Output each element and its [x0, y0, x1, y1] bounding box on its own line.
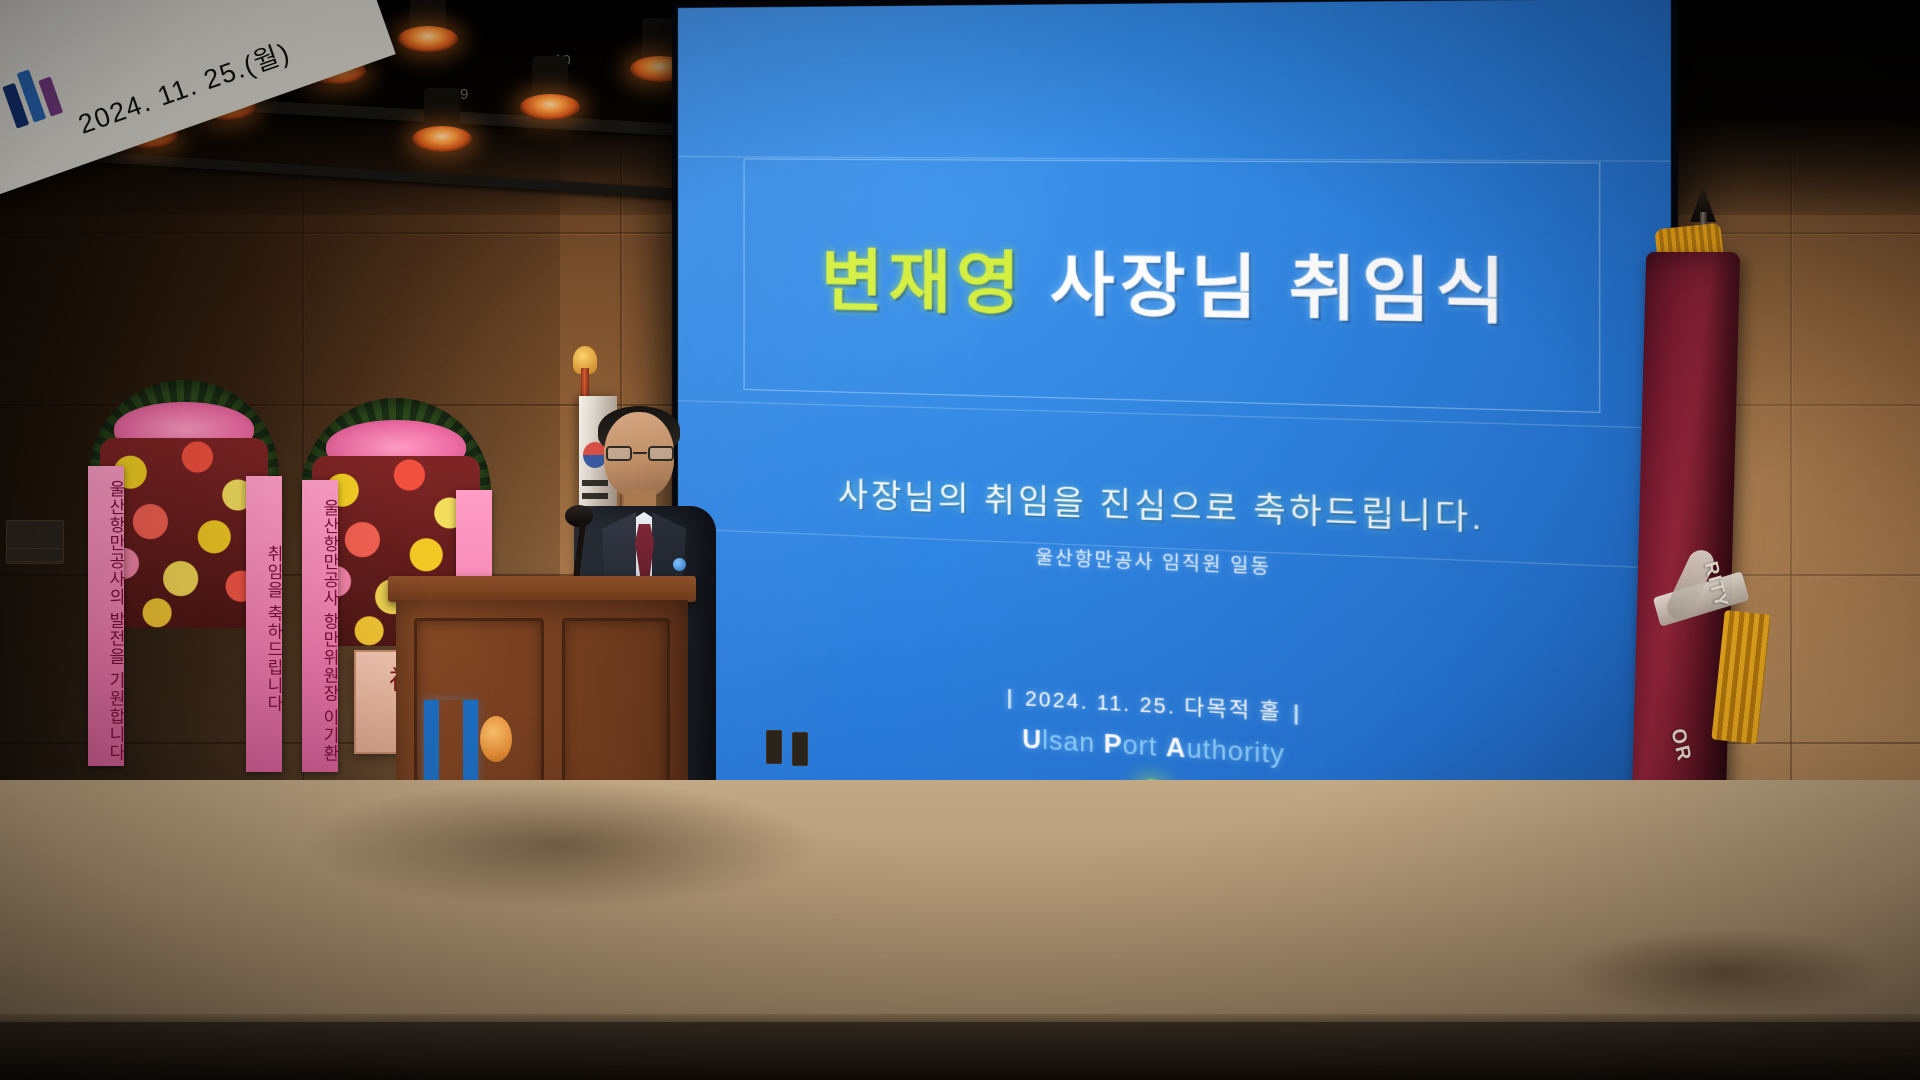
slide-title-frame: 변재영 사장님 취임식 — [744, 158, 1601, 412]
wordmark-p: P — [1104, 730, 1123, 760]
emblem-dot — [480, 716, 512, 762]
flag-text-secondary: OR — [1665, 726, 1695, 765]
banner-logo-icon — [0, 63, 63, 128]
wordmark-ort: ort — [1123, 731, 1166, 763]
slide-title-name: 변재영 — [821, 243, 1025, 322]
slide-title-rest: 사장님 취임식 — [1025, 245, 1511, 331]
wall-outlet — [6, 548, 64, 562]
wall-outlet — [792, 732, 808, 766]
wall-outlet — [766, 730, 782, 764]
podium-top-surface — [388, 576, 696, 602]
wreath-ribbon-left: 울산항만공사 항만위원장 이기환 — [302, 480, 338, 772]
ceremony-stage-scene: 9 10 11 2024. 11. 25.(월) 변재영 사장님 취임식 사장님… — [0, 0, 1920, 1080]
wordmark-u: U — [1022, 725, 1042, 755]
wordmark-lsan: lsan — [1042, 726, 1104, 759]
wordmark-a: A — [1166, 733, 1187, 764]
speaker-glasses-icon — [606, 446, 674, 461]
projection-screen: 변재영 사장님 취임식 사장님의 취임을 진심으로 축하드립니다. 울산항만공사… — [672, 0, 1678, 853]
venue-bar-left: | — [1006, 687, 1014, 710]
wreath-ribbon-right: 취임을 축하드립니다 — [246, 476, 282, 772]
stage-spotlight — [412, 88, 472, 162]
wordmark-uthority: uthority — [1187, 734, 1286, 769]
wreath-flowers — [100, 438, 268, 628]
congratulatory-wreath-left: 울산항만공사의 발전을 기원합니다 취임을 축하드립니다 — [84, 380, 284, 800]
flag-floor-shadow — [1560, 928, 1890, 1018]
stage-spotlight — [520, 56, 580, 130]
venue-bar-right: | — [1293, 702, 1301, 726]
slide-title: 변재영 사장님 취임식 — [745, 226, 1600, 340]
slide-surface: 변재영 사장님 취임식 사장님의 취임을 진심으로 축하드립니다. 울산항만공사… — [678, 0, 1671, 846]
venue-text: 2024. 11. 25. 다목적 홀 — [1025, 688, 1282, 725]
wreath-ribbon-left: 울산항만공사의 발전을 기원합니다 — [88, 466, 124, 766]
stage-front-face — [0, 1022, 1920, 1080]
stage-spotlight — [398, 0, 458, 62]
podium-floor-shadow — [300, 780, 820, 910]
